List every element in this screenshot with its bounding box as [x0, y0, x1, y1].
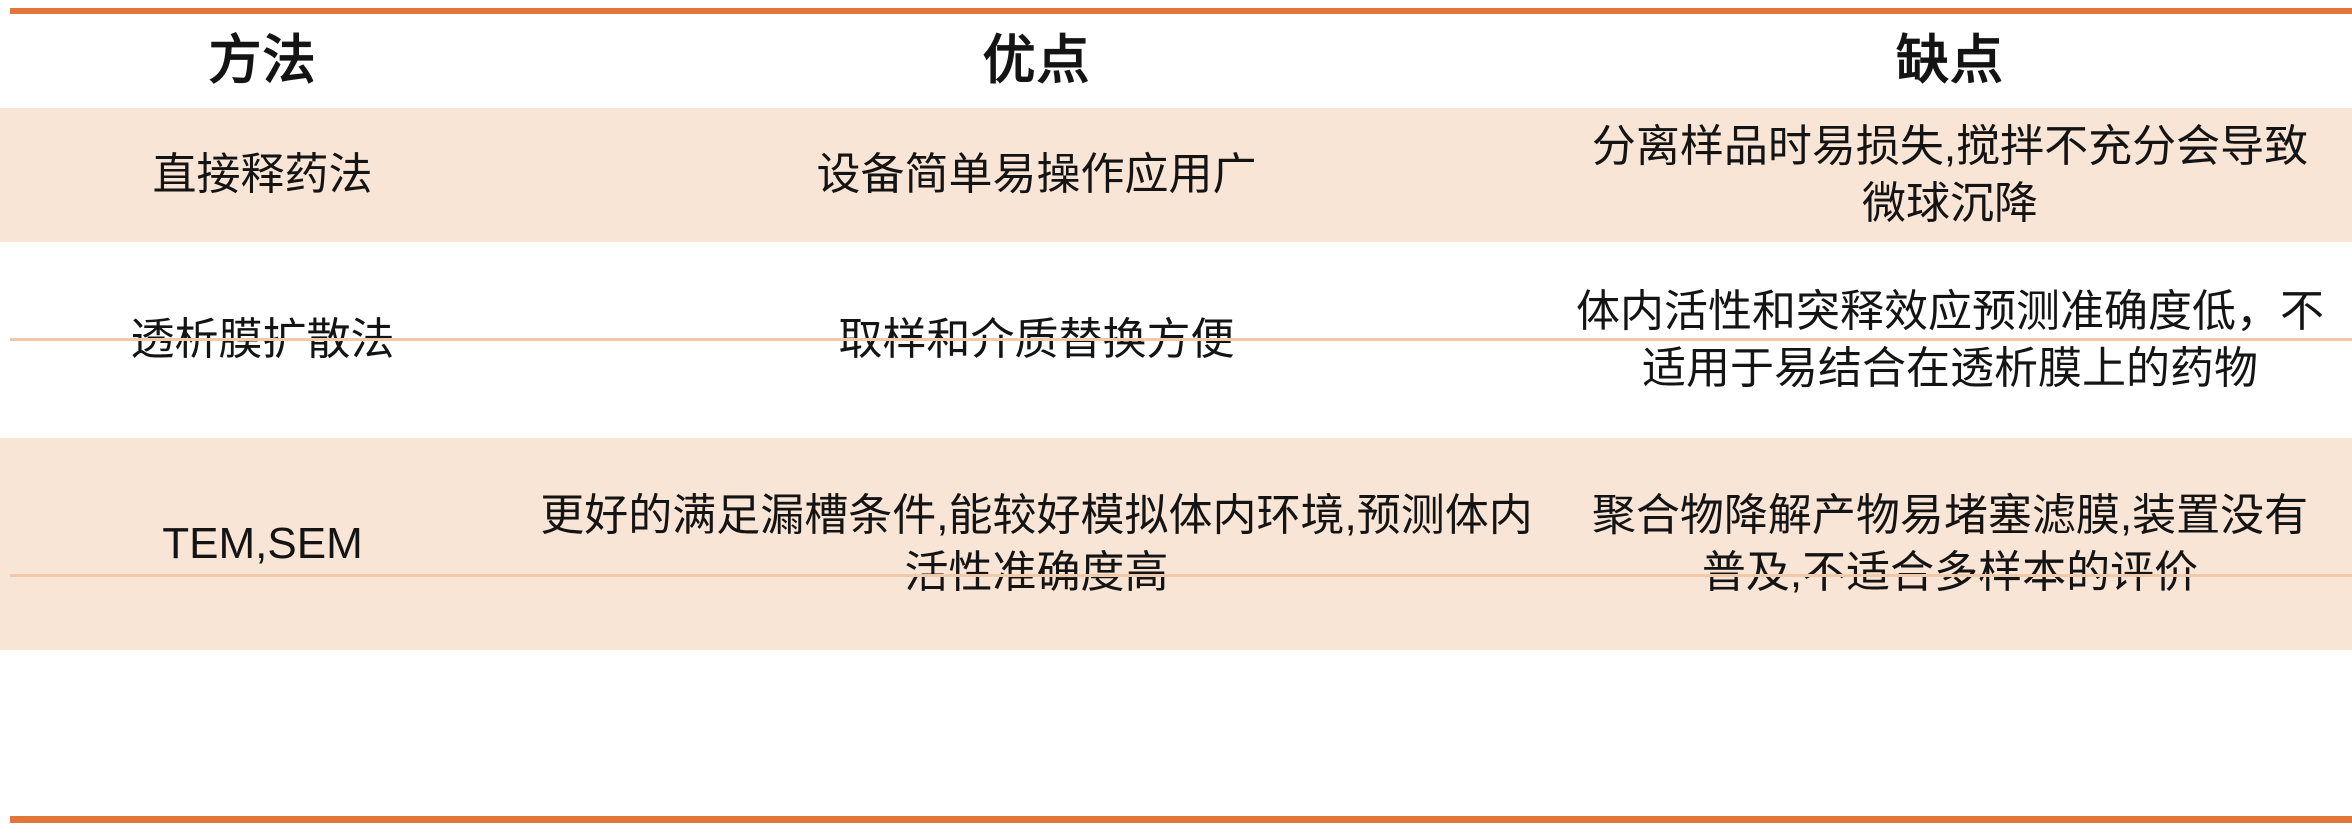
column-header-pros: 优点	[525, 14, 1548, 108]
table-header-row: 方法 优点 缺点	[0, 14, 2352, 108]
cell-pros: 更好的满足漏槽条件,能较好模拟体内环境,预测体内活性准确度高	[525, 438, 1548, 650]
row-divider	[10, 338, 2352, 341]
comparison-table-container: 方法 优点 缺点 直接释药法 设备简单易操作应用广 分离样品时易损失,搅拌不充分…	[0, 0, 2352, 833]
column-header-method: 方法	[0, 14, 525, 108]
table-row: 直接释药法 设备简单易操作应用广 分离样品时易损失,搅拌不充分会导致微球沉降	[0, 108, 2352, 242]
comparison-table: 方法 优点 缺点 直接释药法 设备简单易操作应用广 分离样品时易损失,搅拌不充分…	[0, 14, 2352, 650]
cell-method: 直接释药法	[0, 108, 525, 242]
table-row: TEM,SEM 更好的满足漏槽条件,能较好模拟体内环境,预测体内活性准确度高 聚…	[0, 438, 2352, 650]
cell-cons: 分离样品时易损失,搅拌不充分会导致微球沉降	[1548, 108, 2352, 242]
cell-pros: 设备简单易操作应用广	[525, 108, 1548, 242]
row-divider	[10, 574, 2352, 577]
cell-cons: 聚合物降解产物易堵塞滤膜,装置没有普及,不适合多样本的评价	[1548, 438, 2352, 650]
table-bottom-rule	[10, 816, 2352, 823]
cell-method: TEM,SEM	[0, 438, 525, 650]
column-header-cons: 缺点	[1548, 14, 2352, 108]
